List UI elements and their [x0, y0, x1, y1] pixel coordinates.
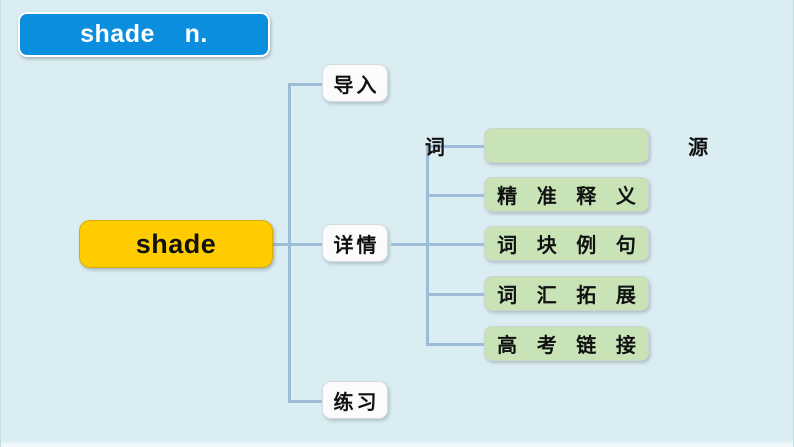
mindmap-node-jingzhunshiyi-label: 精 准 释 义: [490, 180, 643, 209]
mindmap-node-cihuituozhan[interactable]: 词 汇 拓 展: [484, 276, 649, 311]
mindmap-node-xiangqing[interactable]: 详情: [322, 224, 388, 262]
mindmap-node-lianxi[interactable]: 练习: [322, 381, 388, 419]
mindmap-node-jingzhunshiyi[interactable]: 精 准 释 义: [484, 177, 649, 212]
connector-subtrunk-to-child-4: [426, 293, 484, 296]
connector-subtrunk-to-child-5: [426, 343, 484, 346]
connector-subtrunk-to-child-2: [426, 194, 484, 197]
connector-trunk-to-xiangqing: [288, 243, 322, 246]
mindmap-node-cikuailiju[interactable]: 词 块 例 句: [484, 226, 649, 261]
connector-trunk-to-daoru: [288, 83, 322, 86]
slide-title-box: shade n.: [18, 12, 270, 57]
mindmap-node-xiangqing-label: 详情: [331, 229, 380, 258]
connector-xiangqing-to-subtrunk: [391, 243, 429, 246]
slide-bottom-band: [1, 441, 793, 447]
mindmap-node-cihuituozhan-label: 词 汇 拓 展: [490, 279, 643, 308]
mindmap-node-cikuailiju-label: 词 块 例 句: [490, 229, 643, 258]
mindmap-root-label: shade: [136, 229, 217, 260]
slide-title-text: shade n.: [80, 20, 208, 49]
connector-subtrunk-to-child-3: [426, 243, 484, 246]
mindmap-node-lianxi-label: 练习: [331, 386, 380, 415]
mindmap-root-node[interactable]: shade: [79, 220, 273, 268]
mindmap-node-ciyuan-label: 词 源: [395, 131, 738, 160]
connector-trunk-to-lianxi: [288, 400, 322, 403]
mindmap-node-gaokaolianjie-label: 高 考 链 接: [490, 329, 643, 358]
mindmap-node-ciyuan[interactable]: 词 源: [484, 128, 649, 163]
slide-canvas: shade n. shade 导入 详情 练习 词 源 精 准 释 义 词 块 …: [0, 0, 794, 447]
mindmap-node-gaokaolianjie[interactable]: 高 考 链 接: [484, 326, 649, 361]
mindmap-node-daoru[interactable]: 导入: [322, 64, 388, 102]
mindmap-node-daoru-label: 导入: [331, 69, 380, 98]
